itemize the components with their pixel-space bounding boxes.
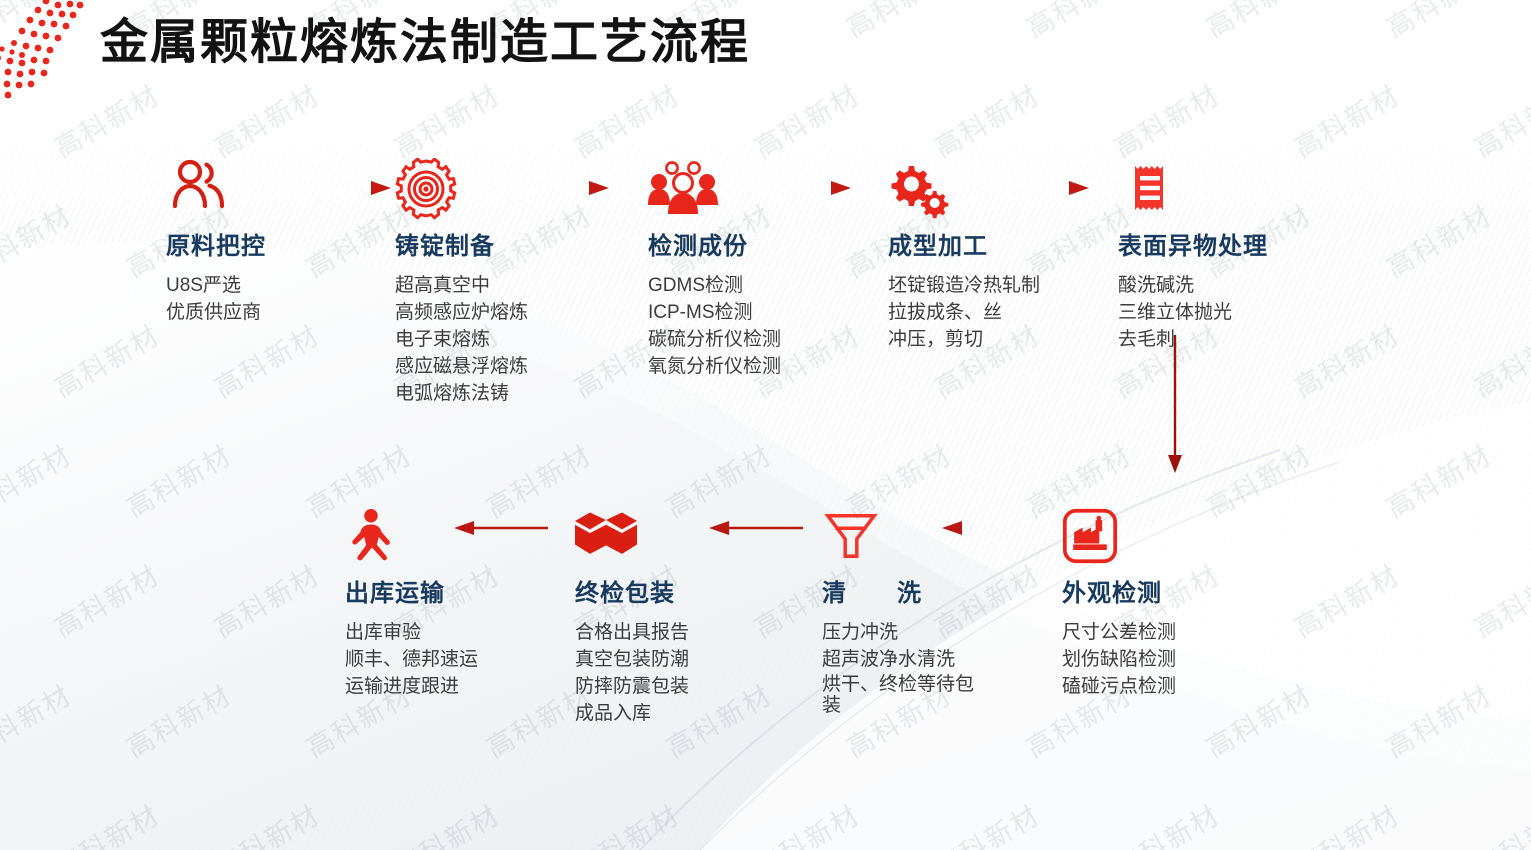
step-detail-line: 划伤缺陷检测: [1062, 647, 1312, 674]
step-detail-lines: 超高真空中 高频感应炉熔炼 电子束熔炼 感应磁悬浮熔炼 电弧熔炼法铸: [395, 273, 645, 408]
step-detail-line: 出库审验: [345, 620, 595, 647]
step-detail-line: 去毛刺: [1118, 327, 1368, 354]
step-detail-line: 酸洗碱洗: [1118, 273, 1368, 300]
step-title: 外观检测: [1062, 573, 1312, 608]
users-icon: [166, 158, 228, 220]
people-group-icon: [648, 158, 718, 220]
step-detail-line: 磕碰污点检测: [1062, 674, 1312, 701]
step-detail-line: 感应磁悬浮熔炼: [395, 354, 645, 381]
step-detail-line: 高频感应炉熔炼: [395, 300, 645, 327]
flow-step-appearance-inspection[interactable]: 外观检测 尺寸公差检测 划伤缺陷检测 磕碰污点检测: [1062, 505, 1312, 701]
flow-step-cleaning[interactable]: 清 洗 压力冲洗 超声波净水清洗 烘干、终检等待包装: [822, 505, 1072, 716]
step-title: 出库运输: [345, 573, 595, 608]
arrow-right-4-icon: [995, 178, 1091, 198]
step-detail-lines: 坯锭锻造冷热轧制 拉拔成条、丝 冲压，剪切: [888, 273, 1138, 354]
flow-step-final-inspection-packaging[interactable]: 终检包装 合格出具报告 真空包装防潮 防摔防震包装 成品入库: [575, 505, 825, 728]
step-detail-line: GDMS检测: [648, 273, 898, 300]
step-detail-lines: 压力冲洗 超声波净水清洗 烘干、终检等待包装: [822, 620, 1072, 716]
step-detail-line: 优质供应商: [166, 300, 416, 327]
arrow-right-1-icon: [297, 178, 393, 198]
step-detail-line: 电子束熔炼: [395, 327, 645, 354]
step-title: 检测成份: [648, 226, 898, 261]
funnel-icon: [822, 505, 880, 567]
step-detail-line: 坯锭锻造冷热轧制: [888, 273, 1138, 300]
gear-target-icon: [395, 158, 457, 220]
arrow-down-5-icon: [1164, 335, 1186, 475]
step-detail-lines: U8S严选 优质供应商: [166, 273, 416, 327]
arrow-right-3-icon: [757, 178, 853, 198]
step-detail-line: 顺丰、德邦速运: [345, 647, 595, 674]
dot-arc-decoration-icon: [0, 0, 114, 102]
step-detail-line: 超高真空中: [395, 273, 645, 300]
step-detail-line: 氧氮分析仪检测: [648, 354, 898, 381]
page-header: 金属颗粒熔炼法制造工艺流程: [0, 0, 1531, 100]
step-title: 成型加工: [888, 226, 1138, 261]
flow-step-outbound-shipping[interactable]: 出库运输 出库审验 顺丰、德邦速运 运输进度跟进: [345, 505, 595, 701]
step-detail-line: ICP-MS检测: [648, 300, 898, 327]
page-title: 金属颗粒熔炼法制造工艺流程: [100, 2, 750, 72]
step-detail-line: 烘干、终检等待包装: [822, 674, 987, 717]
step-detail-line: U8S严选: [166, 273, 416, 300]
step-detail-line: 超声波净水清洗: [822, 647, 1072, 674]
step-detail-line: 电弧熔炼法铸: [395, 381, 645, 408]
step-detail-line: 拉拔成条、丝: [888, 300, 1138, 327]
step-title: 表面异物处理: [1118, 226, 1368, 261]
step-detail-lines: 出库审验 顺丰、德邦速运 运输进度跟进: [345, 620, 595, 701]
gears-icon: [888, 158, 950, 220]
step-title: 终检包装: [575, 573, 825, 608]
step-detail-line: 冲压，剪切: [888, 327, 1138, 354]
flow-step-surface-treatment[interactable]: 表面异物处理 酸洗碱洗 三维立体抛光 去毛刺: [1118, 158, 1368, 354]
step-detail-line: 碳硫分析仪检测: [648, 327, 898, 354]
step-detail-line: 三维立体抛光: [1118, 300, 1368, 327]
step-detail-line: 压力冲洗: [822, 620, 1072, 647]
step-detail-line: 尺寸公差检测: [1062, 620, 1312, 647]
arrow-right-2-icon: [515, 178, 611, 198]
step-detail-line: 运输进度跟进: [345, 674, 595, 701]
step-title: 铸锭制备: [395, 226, 645, 261]
step-detail-lines: GDMS检测 ICP-MS检测 碳硫分析仪检测 氧氮分析仪检测: [648, 273, 898, 381]
process-flow-diagram: 原料把控 U8S严选 优质供应商 铸锭制备 超高真空中 高频感应炉熔炼 电: [0, 0, 1531, 850]
step-detail-line: 真空包装防潮: [575, 647, 825, 674]
step-detail-line: 合格出具报告: [575, 620, 825, 647]
step-title: 原料把控: [166, 226, 416, 261]
step-detail-line: 防摔防震包装: [575, 674, 825, 701]
step-title: 清 洗: [822, 573, 1072, 608]
step-detail-lines: 尺寸公差检测 划伤缺陷检测 磕碰污点检测: [1062, 620, 1312, 701]
step-detail-lines: 合格出具报告 真空包装防潮 防摔防震包装 成品入库: [575, 620, 825, 728]
step-detail-line: 成品入库: [575, 701, 825, 728]
receipt-icon: [1118, 158, 1180, 220]
step-detail-lines: 酸洗碱洗 三维立体抛光 去毛刺: [1118, 273, 1368, 354]
running-person-icon: [345, 505, 397, 567]
